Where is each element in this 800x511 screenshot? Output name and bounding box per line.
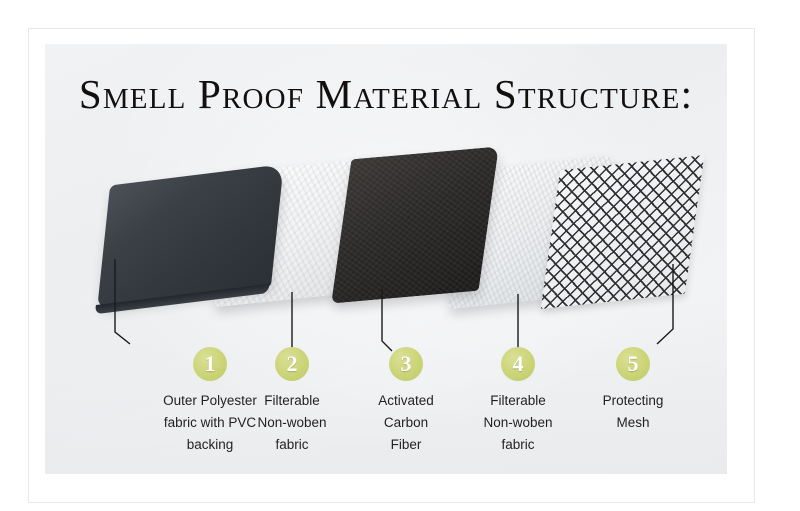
badge-4[interactable]: 4: [501, 347, 535, 381]
badge-1[interactable]: 1: [193, 347, 227, 381]
badge-number: 1: [193, 347, 227, 381]
caption-line: Protecting: [558, 390, 708, 412]
badge-number: 2: [275, 347, 309, 381]
badge-number: 5: [616, 347, 650, 381]
caption-line: Mesh: [558, 412, 708, 434]
badge-number: 3: [389, 347, 423, 381]
badge-3[interactable]: 3: [389, 347, 423, 381]
caption-5: Protecting Mesh: [558, 390, 708, 434]
infographic-page: Smell Proof Material Structure:: [0, 0, 800, 511]
product-photo: Smell Proof Material Structure:: [45, 44, 727, 474]
leader-line-3: [382, 289, 392, 351]
caption-line: fabric: [443, 434, 593, 456]
leader-line-1: [115, 259, 130, 344]
badge-2[interactable]: 2: [275, 347, 309, 381]
badge-5[interactable]: 5: [616, 347, 650, 381]
leader-line-5: [657, 264, 673, 344]
badge-number: 4: [501, 347, 535, 381]
